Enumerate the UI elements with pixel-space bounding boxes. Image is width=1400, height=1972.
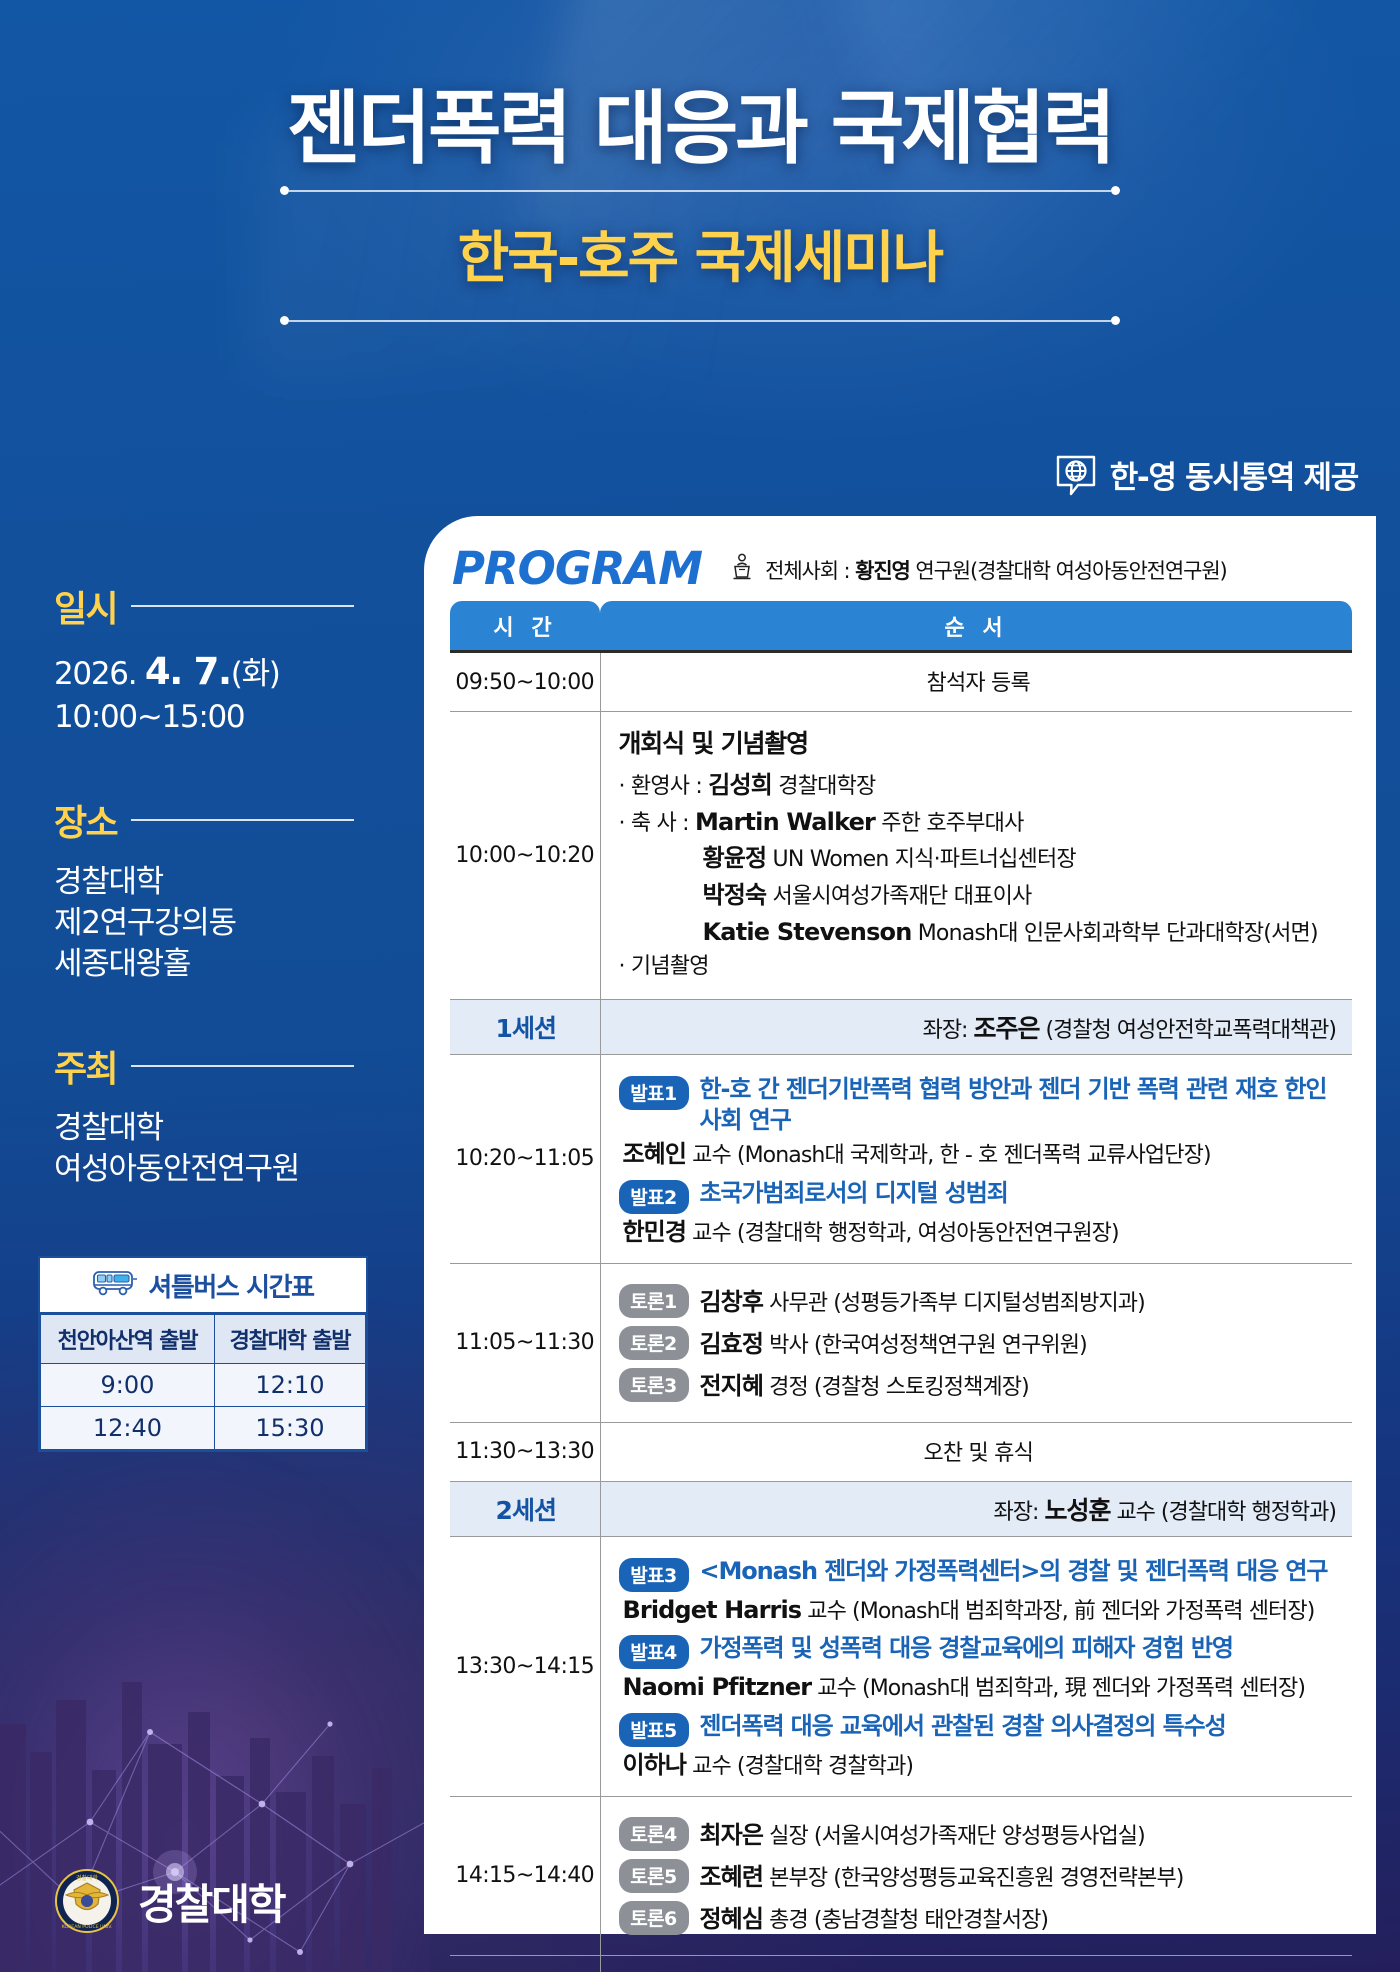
shuttle-time: 9:00: [41, 1364, 215, 1407]
discussant-text: 김창후 사무관 (성평등가족부 디지털성범죄방지과): [700, 1282, 1145, 1317]
talk-title: 가정폭력 및 성폭력 대응 경찰교육에의 피해자 경험 반영: [700, 1633, 1233, 1664]
table-row: 11:05~11:30 토론1 김창후 사무관 (성평등가족부 디지털성범죄방지…: [450, 1263, 1352, 1422]
discussant-entry: 토론4 최자은 실장 (서울시여성가족재단 양성평등사업실): [619, 1815, 1339, 1851]
row-time: 11:30~13:30: [450, 1422, 600, 1481]
shuttle-title-label: 셔틀버스 시간표: [148, 1267, 313, 1304]
heading-rule: [131, 605, 354, 607]
title-divider: [280, 316, 1120, 325]
talk-speaker: 이하나 교수 (경찰대학 경찰학과): [619, 1749, 1339, 1782]
heading-rule: [131, 819, 354, 821]
row-time: 10:20~11:05: [450, 1055, 600, 1264]
shuttle-time: 12:10: [214, 1364, 365, 1407]
shuttle-time: 12:40: [41, 1407, 215, 1450]
table-row: 09:50~10:00 참석자 등록: [450, 652, 1352, 712]
talk-entry: 발표4 가정폭력 및 성폭력 대응 경찰교육에의 피해자 경험 반영: [619, 1633, 1339, 1669]
talk-speaker: 한민경 교수 (경찰대학 행정학과, 여성아동안전연구원장): [619, 1216, 1339, 1249]
opening-item: 황윤정 UN Women 지식·파트너십센터장: [619, 841, 1339, 876]
bus-icon: [92, 1269, 138, 1302]
discussant-tag: 토론3: [619, 1368, 689, 1402]
shuttle-col-depart-station: 천안아산역 출발: [41, 1315, 215, 1364]
globe-speech-icon: [1055, 454, 1097, 496]
host-line: 경찰대학: [54, 1108, 354, 1149]
row-order-discussants: 토론1 김창후 사무관 (성평등가족부 디지털성범죄방지과) 토론2 김효정 박…: [600, 1263, 1352, 1422]
program-title: PROGRAM: [452, 546, 702, 591]
event-info-sidebar: 일시 2026. 4. 7.(화) 10:00~15:00 장소 경찰대학 제2…: [54, 580, 354, 1246]
table-row: 14:15~14:40 토론4 최자은 실장 (서울시여성가족재단 양성평등사업…: [450, 1796, 1352, 1955]
discussant-text: 전지혜 경정 (경찰청 스토킹정책계장): [700, 1366, 1029, 1401]
table-row: 10:00~10:20 개회식 및 기념촬영 · 환영사 : 김성희 경찰대학장…: [450, 712, 1352, 1000]
date-day: 4. 7.: [145, 650, 231, 693]
discussant-text: 조혜련 본부장 (한국양성평등교육진흥원 경영전략본부): [700, 1857, 1184, 1892]
session-chair: 좌장: 조주은 (경찰청 여성안전학교폭력대책관): [600, 1000, 1352, 1055]
talk-tag: 발표3: [619, 1558, 689, 1592]
korean-national-police-university-emblem-icon: 경찰대학 KOREAN POLICE UNIV.: [54, 1868, 120, 1934]
date-year: 2026.: [54, 656, 145, 692]
shuttle-header-row: 천안아산역 출발 경찰대학 출발: [41, 1315, 366, 1364]
discussant-entry: 토론3 전지혜 경정 (경찰청 스토킹정책계장): [619, 1366, 1339, 1402]
discussant-entry: 토론5 조혜련 본부장 (한국양성평등교육진흥원 경영전략본부): [619, 1857, 1339, 1893]
table-row: 13:30~14:15 발표3 <Monash 젠더와 가정폭력센터>의 경찰 …: [450, 1536, 1352, 1796]
svg-text:KOREAN POLICE UNIV.: KOREAN POLICE UNIV.: [62, 1924, 113, 1930]
moderator-name: 황진영: [855, 559, 910, 583]
talk-speaker: 조혜인 교수 (Monash대 국제학과, 한 - 호 젠더폭력 교류사업단장): [619, 1138, 1339, 1171]
brand-lockup: 경찰대학 KOREAN POLICE UNIV. 경찰대학: [54, 1868, 285, 1934]
row-time: 14:40~15:00: [450, 1955, 600, 1972]
host-line: 여성아동안전연구원: [54, 1149, 354, 1190]
discussant-text: 정혜심 총경 (충남경찰청 태안경찰서장): [700, 1899, 1049, 1934]
shuttle-col-depart-university: 경찰대학 출발: [214, 1315, 365, 1364]
info-heading-date: 일시: [54, 580, 117, 632]
discussant-tag: 토론4: [619, 1817, 689, 1851]
talk-entry: 발표3 <Monash 젠더와 가정폭력센터>의 경찰 및 젠더폭력 대응 연구: [619, 1556, 1339, 1592]
program-header: PROGRAM 전체사회 : 황진영 연구원(경찰대학 여성아동안전연구원): [424, 516, 1376, 599]
opening-title: 개회식 및 기념촬영: [619, 724, 1339, 760]
row-time: 10:00~10:20: [450, 712, 600, 1000]
opening-item: Katie Stevenson Monash대 인문사회과학부 단과대학장(서면…: [619, 915, 1339, 950]
discussant-tag: 토론6: [619, 1901, 689, 1935]
page-title: 젠더폭력 대응과 국제협력: [0, 86, 1400, 172]
poster-subtitle: 한국-호주 국제세미나: [0, 199, 1400, 302]
moderator-text: 전체사회 : 황진영 연구원(경찰대학 여성아동안전연구원): [765, 555, 1227, 585]
title-divider: [280, 186, 1120, 195]
info-heading-venue: 장소: [54, 794, 117, 846]
row-time: 14:15~14:40: [450, 1796, 600, 1955]
venue-line: 세종대왕홀: [54, 944, 354, 985]
row-order: 오찬 및 휴식: [600, 1422, 1352, 1481]
discussant-tag: 토론2: [619, 1326, 689, 1360]
talk-entry: 발표5 젠더폭력 대응 교육에서 관찰된 경찰 의사결정의 특수성: [619, 1711, 1339, 1747]
talk-tag: 발표5: [619, 1713, 689, 1747]
opening-item: · 기념촬영: [619, 951, 1339, 983]
talk-speaker: Bridget Harris 교수 (Monash대 범죄학과장, 前 젠더와 …: [619, 1594, 1339, 1627]
discussant-entry: 토론1 김창후 사무관 (성평등가족부 디지털성범죄방지과): [619, 1282, 1339, 1318]
program-table-header: 시 간 순 서: [450, 601, 1352, 652]
opening-item: 박정숙 서울시여성가족재단 대표이사: [619, 878, 1339, 913]
row-time: 09:50~10:00: [450, 652, 600, 712]
program-table: 시 간 순 서 09:50~10:00 참석자 등록 10:00~10:20 개…: [450, 601, 1352, 1972]
row-order: 질의응답 및 폐회: [600, 1955, 1352, 1972]
overall-moderator: 전체사회 : 황진영 연구원(경찰대학 여성아동안전연구원): [728, 553, 1227, 591]
interpretation-label: 한-영 동시통역 제공: [1110, 452, 1358, 497]
heading-rule: [131, 1065, 354, 1067]
brand-name: 경찰대학: [138, 1871, 285, 1932]
session-label: 1세션: [450, 1000, 600, 1055]
column-header-time: 시 간: [450, 601, 600, 652]
talk-title: 젠더폭력 대응 교육에서 관찰된 경찰 의사결정의 특수성: [700, 1711, 1226, 1742]
venue-line: 경찰대학: [54, 862, 354, 903]
discussant-text: 최자은 실장 (서울시여성가족재단 양성평등사업실): [700, 1815, 1145, 1850]
discussant-entry: 토론6 정혜심 총경 (충남경찰청 태안경찰서장): [619, 1899, 1339, 1935]
info-block-host: 주최 경찰대학 여성아동안전연구원: [54, 1040, 354, 1190]
session-row: 2세션 좌장: 노성훈 교수 (경찰대학 행정학과): [450, 1481, 1352, 1536]
interpretation-badge: 한-영 동시통역 제공: [1055, 452, 1358, 497]
talk-tag: 발표1: [619, 1076, 689, 1110]
program-panel: PROGRAM 전체사회 : 황진영 연구원(경찰대학 여성아동안전연구원): [424, 516, 1376, 1934]
column-header-order: 순 서: [600, 601, 1352, 652]
podium-speaker-icon: [728, 553, 756, 586]
date-weekday: (화): [231, 656, 280, 692]
talk-title: <Monash 젠더와 가정폭력센터>의 경찰 및 젠더폭력 대응 연구: [700, 1556, 1328, 1587]
discussant-tag: 토론1: [619, 1284, 689, 1318]
discussant-tag: 토론5: [619, 1859, 689, 1893]
shuttle-time: 15:30: [214, 1407, 365, 1450]
info-block-date: 일시 2026. 4. 7.(화) 10:00~15:00: [54, 580, 354, 738]
talk-title: 초국가범죄로서의 디지털 성범죄: [700, 1178, 1008, 1209]
talk-speaker: Naomi Pfitzner 교수 (Monash대 범죄학과, 現 젠더와 가…: [619, 1671, 1339, 1704]
discussant-entry: 토론2 김효정 박사 (한국여성정책연구원 연구위원): [619, 1324, 1339, 1360]
row-order-discussants: 토론4 최자은 실장 (서울시여성가족재단 양성평등사업실) 토론5 조혜련 본…: [600, 1796, 1352, 1955]
row-order: 참석자 등록: [600, 652, 1352, 712]
date-time-range: 10:00~15:00: [54, 697, 354, 738]
table-row: 14:40~15:00 질의응답 및 폐회: [450, 1955, 1352, 1972]
table-row: 11:30~13:30 오찬 및 휴식: [450, 1422, 1352, 1481]
row-order-talks: 발표3 <Monash 젠더와 가정폭력센터>의 경찰 및 젠더폭력 대응 연구…: [600, 1536, 1352, 1796]
talk-title: 한-호 간 젠더기반폭력 협력 방안과 젠더 기반 폭력 관련 재호 한인 사회…: [700, 1074, 1339, 1136]
session-label: 2세션: [450, 1481, 600, 1536]
row-order-opening: 개회식 및 기념촬영 · 환영사 : 김성희 경찰대학장 · 축 사 : Mar…: [600, 712, 1352, 1000]
talk-tag: 발표4: [619, 1635, 689, 1669]
svg-text:경찰대학: 경찰대학: [76, 1874, 99, 1882]
venue-line: 제2연구강의동: [54, 903, 354, 944]
opening-item: · 축 사 : Martin Walker 주한 호주부대사: [619, 805, 1339, 840]
talk-entry: 발표1 한-호 간 젠더기반폭력 협력 방안과 젠더 기반 폭력 관련 재호 한…: [619, 1074, 1339, 1136]
talk-entry: 발표2 초국가범죄로서의 디지털 성범죄: [619, 1178, 1339, 1214]
shuttle-bus-timetable: 셔틀버스 시간표 천안아산역 출발 경찰대학 출발 9:00 12:10 12:…: [38, 1256, 368, 1452]
opening-item: · 환영사 : 김성희 경찰대학장: [619, 768, 1339, 803]
discussant-text: 김효정 박사 (한국여성정책연구원 연구위원): [700, 1324, 1087, 1359]
talk-tag: 발표2: [619, 1180, 689, 1214]
table-row: 12:40 15:30: [41, 1407, 366, 1450]
row-time: 13:30~14:15: [450, 1536, 600, 1796]
session-row: 1세션 좌장: 조주은 (경찰청 여성안전학교폭력대책관): [450, 1000, 1352, 1055]
table-row: 10:20~11:05 발표1 한-호 간 젠더기반폭력 협력 방안과 젠더 기…: [450, 1055, 1352, 1264]
session-chair: 좌장: 노성훈 교수 (경찰대학 행정학과): [600, 1481, 1352, 1536]
row-order-talks: 발표1 한-호 간 젠더기반폭력 협력 방안과 젠더 기반 폭력 관련 재호 한…: [600, 1055, 1352, 1264]
poster-title-block: 젠더폭력 대응과 국제협력 한국-호주 국제세미나: [0, 86, 1400, 329]
row-time: 11:05~11:30: [450, 1263, 600, 1422]
info-block-venue: 장소 경찰대학 제2연구강의동 세종대왕홀: [54, 794, 354, 985]
table-row: 9:00 12:10: [41, 1364, 366, 1407]
seminar-poster: 젠더폭력 대응과 국제협력 한국-호주 국제세미나 한-영 동시통역 제공 일: [0, 0, 1400, 1972]
info-heading-host: 주최: [54, 1040, 117, 1092]
